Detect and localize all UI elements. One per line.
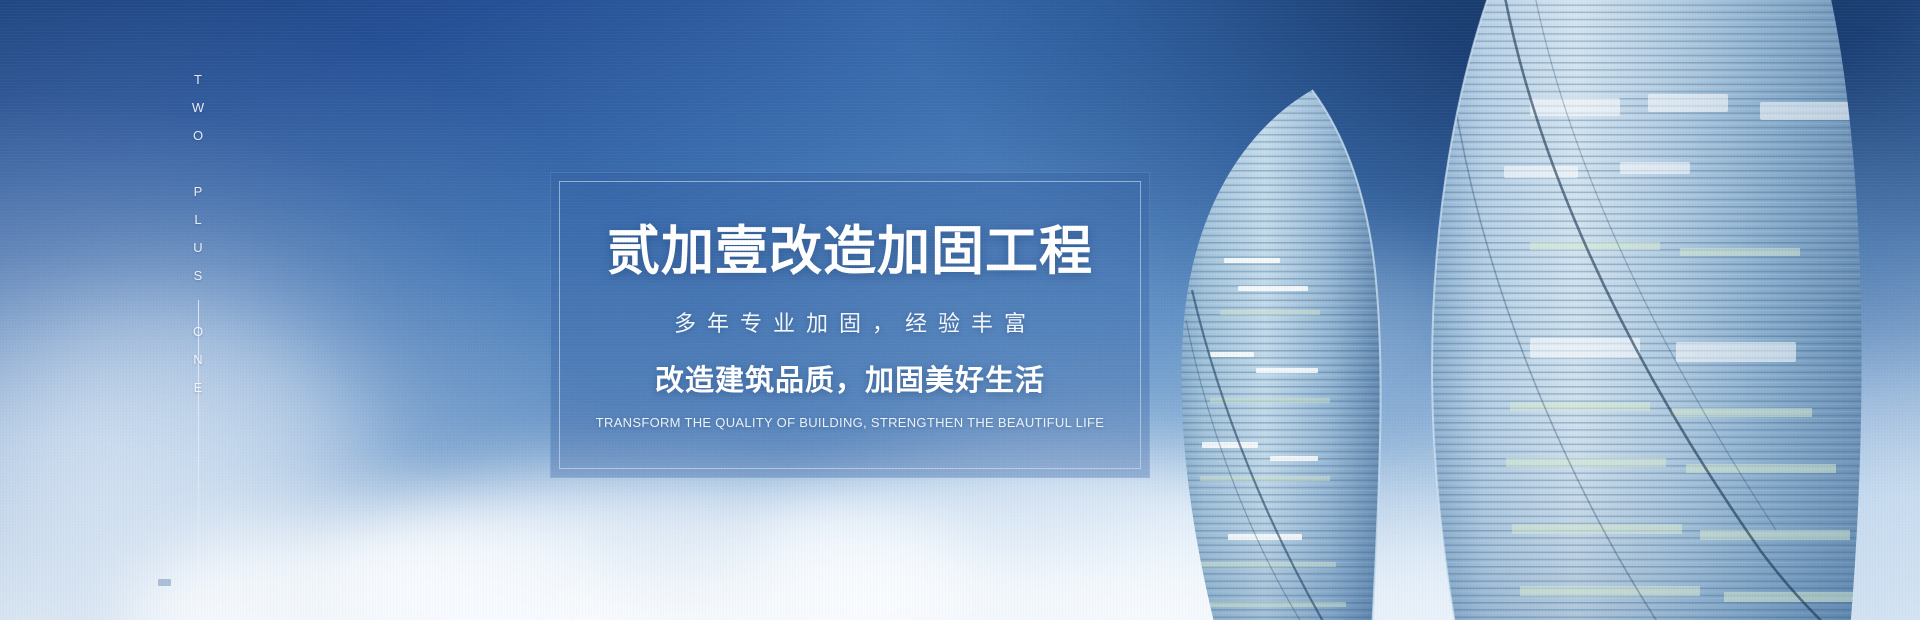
- skyscraper-photo: [1060, 0, 1920, 620]
- hero-banner: TWO PLUS ONE 贰加壹改造加固工程 多年专业加固，经验丰富 改造建筑品…: [0, 0, 1920, 620]
- vertical-divider-line: [198, 300, 199, 620]
- panel-content: 贰加壹改造加固工程 多年专业加固，经验丰富 改造建筑品质，加固美好生活 TRAN…: [550, 172, 1150, 478]
- page-title: 贰加壹改造加固工程: [607, 221, 1093, 278]
- hero-english-tagline: TRANSFORM THE QUALITY OF BUILDING, STREN…: [596, 416, 1104, 429]
- hero-slogan: 改造建筑品质，加固美好生活: [655, 367, 1045, 396]
- tower-right: [1420, 0, 1880, 620]
- tower-left: [1160, 50, 1410, 620]
- skyscraper-illustration: [1060, 0, 1920, 620]
- hero-subtitle: 多年专业加固，经验丰富: [663, 313, 1037, 335]
- small-marker-icon: [158, 579, 171, 586]
- hero-text-panel: 贰加壹改造加固工程 多年专业加固，经验丰富 改造建筑品质，加固美好生活 TRAN…: [550, 172, 1150, 478]
- vertical-brand-rail: TWO PLUS ONE: [178, 0, 218, 620]
